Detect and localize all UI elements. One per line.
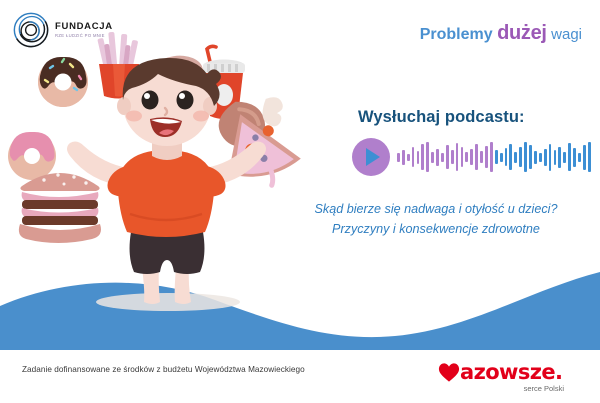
waveform-bar xyxy=(402,150,405,165)
waveform-bar xyxy=(397,153,400,162)
right-eye xyxy=(177,91,194,110)
waveform-bar xyxy=(524,142,527,172)
mazowsze-wordmark: azowsze. xyxy=(438,362,568,383)
concentric-rings-icon xyxy=(13,12,49,48)
shirt xyxy=(118,150,215,237)
character-shadow xyxy=(96,293,240,311)
waveform-bar xyxy=(451,150,454,164)
burger-icon xyxy=(19,173,101,243)
waveform-bar xyxy=(412,147,415,167)
waveform-bar xyxy=(509,144,512,170)
waveform-bar xyxy=(563,152,566,163)
waveform-bar xyxy=(549,144,552,171)
audio-waveform[interactable] xyxy=(397,140,591,174)
waveform-bar xyxy=(436,149,439,166)
podcast-player[interactable] xyxy=(352,138,591,176)
fundacja-logo: FUNDACJA RZE ŁUDZIĆ PO MNIE xyxy=(13,12,113,48)
play-button[interactable] xyxy=(352,138,390,176)
title-part-problemy: Problemy xyxy=(420,26,493,43)
waveform-bar xyxy=(441,153,444,162)
logo-title: FUNDACJA xyxy=(55,22,113,32)
waveform-bar xyxy=(534,151,537,164)
waveform-bar xyxy=(505,148,508,166)
waveform-bar xyxy=(544,149,547,166)
waveform-bar xyxy=(407,154,410,161)
mazowsze-text: azowsze. xyxy=(460,362,562,383)
waveform-bar xyxy=(446,145,449,169)
illustration-group xyxy=(0,0,330,340)
funding-note: Zadanie dofinansowane ze środków z budże… xyxy=(22,365,305,374)
waveform-bar xyxy=(490,142,493,172)
waveform-bar xyxy=(461,147,464,167)
waveform-bar xyxy=(529,145,532,169)
waveform-bar xyxy=(519,147,522,167)
donut-pink-icon xyxy=(8,132,56,180)
title-part-wagi: wagi xyxy=(551,26,582,43)
heart-m-icon xyxy=(438,362,460,383)
waveform-bar xyxy=(465,152,468,162)
poster-canvas: FUNDACJA RZE ŁUDZIĆ PO MNIE Problemy duż… xyxy=(0,0,600,403)
mazowsze-logo: azowsze. serce Polski xyxy=(438,362,568,393)
waveform-bar xyxy=(431,152,434,163)
shorts xyxy=(130,232,205,274)
waveform-bar xyxy=(539,153,542,162)
logo-subtitle: RZE ŁUDZIĆ PO MNIE xyxy=(55,34,113,38)
waveform-bar xyxy=(421,144,424,170)
play-icon xyxy=(366,148,380,166)
waveform-bar xyxy=(573,148,576,167)
waveform-bar xyxy=(558,147,561,168)
title-part-duzej: dużej xyxy=(497,22,547,44)
waveform-bar xyxy=(578,153,581,162)
waveform-bar xyxy=(480,151,483,163)
subtitle-line-1: Skąd bierze się nadwaga i otyłość u dzie… xyxy=(286,200,586,220)
waveform-bar xyxy=(568,143,571,171)
waveform-bar xyxy=(514,152,517,163)
mazowsze-tagline: serce Polski xyxy=(438,384,568,393)
left-eye xyxy=(142,91,159,110)
podcast-subtitle: Skąd bierze się nadwaga i otyłość u dzie… xyxy=(286,200,586,239)
waveform-bar xyxy=(485,146,488,168)
subtitle-line-2: Przyczyny i konsekwencje zdrowotne xyxy=(286,220,586,240)
waveform-bar xyxy=(588,142,591,172)
waveform-bar xyxy=(500,153,503,162)
waveform-bar xyxy=(495,150,498,164)
waveform-bar xyxy=(475,144,478,170)
waveform-bar xyxy=(456,143,459,171)
waveform-bar xyxy=(470,149,473,165)
waveform-bar xyxy=(554,150,557,165)
waveform-bar xyxy=(426,142,429,172)
waveform-bar xyxy=(417,151,420,164)
podcast-heading: Wysłuchaj podcastu: xyxy=(358,108,525,127)
donut-chocolate-icon xyxy=(38,57,88,107)
page-title: Problemy dużej wagi xyxy=(420,22,582,45)
waveform-bar xyxy=(583,145,586,170)
